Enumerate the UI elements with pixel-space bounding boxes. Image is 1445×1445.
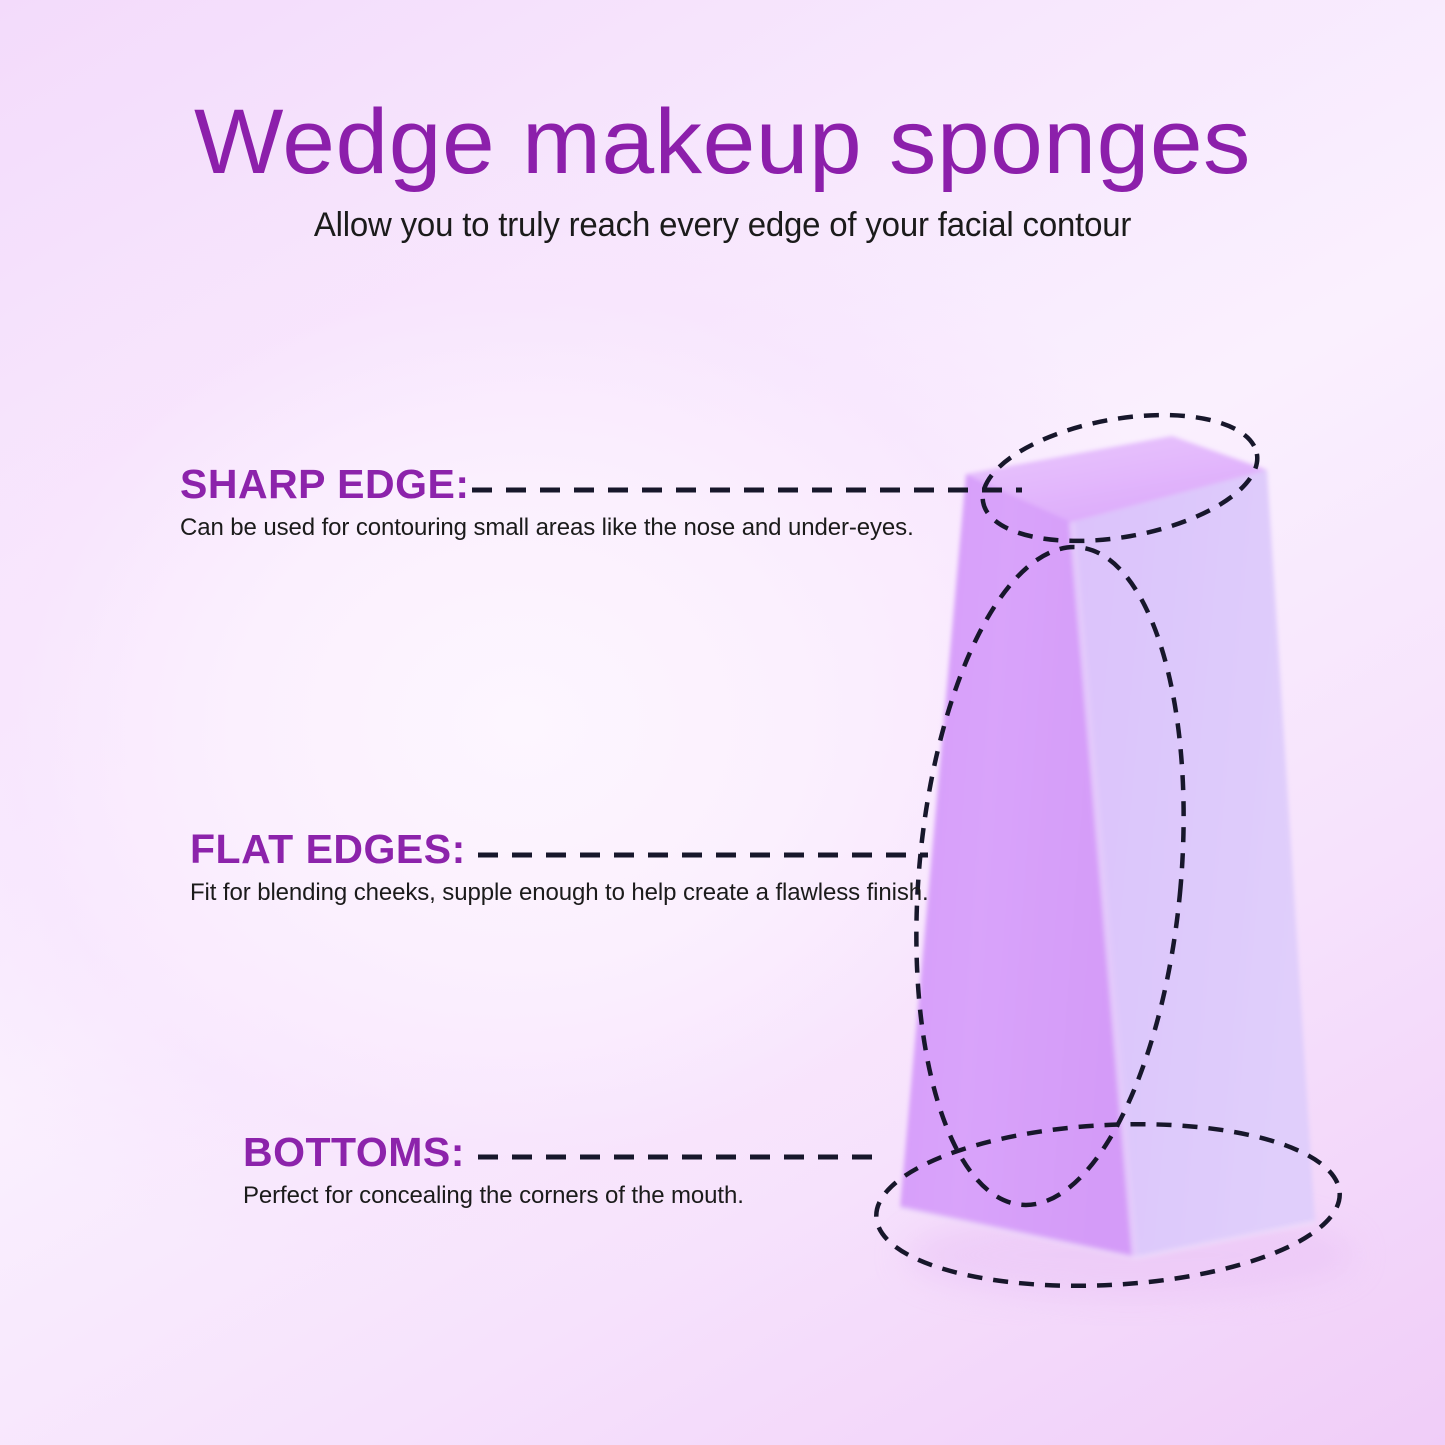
page-title: Wedge makeup sponges xyxy=(0,0,1445,188)
sponge-edge-highlight xyxy=(1072,522,1135,1258)
sponge-shadow xyxy=(905,1211,1355,1299)
header: Wedge makeup sponges Allow you to truly … xyxy=(0,0,1445,245)
callout-heading-flat-edges: FLAT EDGES: xyxy=(190,829,929,870)
product-infographic: Wedge makeup sponges Allow you to truly … xyxy=(0,0,1445,1445)
highlight-flat-edges-ellipse xyxy=(891,536,1210,1216)
callout-description-flat-edges: Fit for blending cheeks, supple enough t… xyxy=(190,879,929,907)
sponge-front-face xyxy=(900,474,1135,1258)
callout-description-bottoms: Perfect for concealing the corners of th… xyxy=(243,1182,744,1210)
callout-description-sharp-edge: Can be used for contouring small areas l… xyxy=(180,514,914,542)
sponge-bottom-rim xyxy=(900,1208,1315,1258)
highlight-bottoms-ellipse xyxy=(872,1113,1344,1297)
callout-sharp-edge: SHARP EDGE: Can be used for contouring s… xyxy=(180,464,914,542)
callout-bottoms: BOTTOMS: Perfect for concealing the corn… xyxy=(243,1132,744,1210)
highlight-sharp-edge-ellipse xyxy=(973,396,1267,560)
callout-flat-edges: FLAT EDGES: Fit for blending cheeks, sup… xyxy=(190,829,929,907)
callout-heading-bottoms: BOTTOMS: xyxy=(243,1132,744,1173)
callout-heading-sharp-edge: SHARP EDGE: xyxy=(180,464,914,505)
page-subtitle: Allow you to truly reach every edge of y… xyxy=(22,188,1424,245)
sponge-top-face xyxy=(966,436,1267,522)
sponge-side-face xyxy=(1072,470,1315,1258)
